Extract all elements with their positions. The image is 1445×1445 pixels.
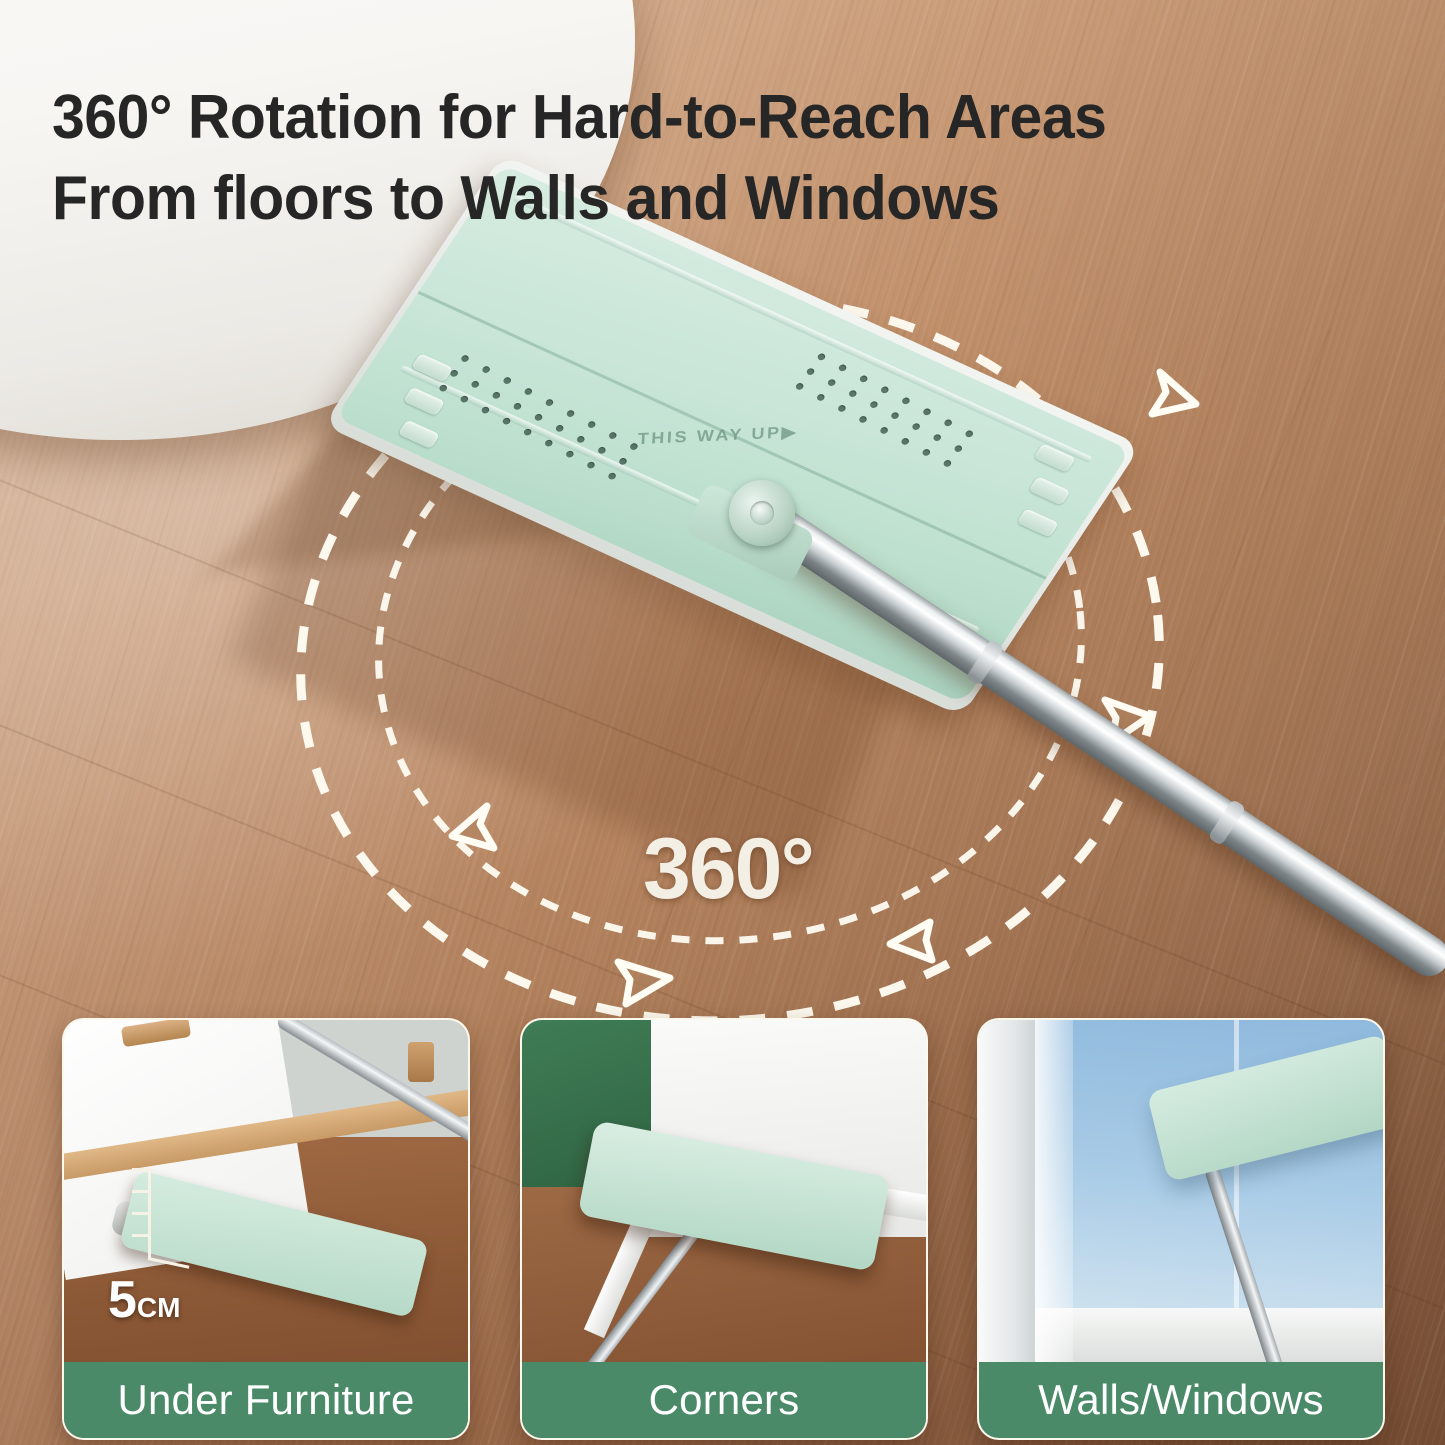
mop-pad-clip-slot xyxy=(403,387,445,416)
ruler-tick xyxy=(132,1168,150,1171)
furniture-leg xyxy=(408,1042,434,1082)
mop-pad-clip-slot xyxy=(1017,508,1059,537)
headline-line-2: From floors to Walls and Windows xyxy=(52,159,1344,240)
mop-head-orientation-label: THIS WAY UP▶ xyxy=(637,423,799,449)
use-case-panel-walls-windows[interactable]: Walls/Windows xyxy=(977,1018,1385,1440)
panel-caption-corners: Corners xyxy=(522,1362,926,1438)
height-ruler xyxy=(104,1168,150,1260)
clearance-measurement: 5CM xyxy=(108,1270,180,1330)
handle-segment-joint xyxy=(966,639,1005,686)
product-feature-image: 360° xyxy=(0,0,1445,1445)
mop-swivel-joint xyxy=(729,480,795,546)
mop-pad-clip-slot xyxy=(1028,476,1070,505)
use-case-panel-under-furniture[interactable]: 5CM Under Furniture xyxy=(62,1018,470,1440)
panel-caption-walls-windows: Walls/Windows xyxy=(979,1362,1383,1438)
handle-segment-joint xyxy=(1208,799,1247,846)
ruler-tick xyxy=(132,1234,150,1237)
mop-handle-pole xyxy=(759,503,1445,983)
use-case-panel-corners[interactable]: Corners xyxy=(520,1018,928,1440)
mop-pad-surface: THIS WAY UP▶ xyxy=(335,164,1131,703)
measure-unit: CM xyxy=(137,1292,181,1323)
use-case-panel-row: 5CM Under Furniture Corners xyxy=(0,1018,1445,1445)
mop-head-pad: THIS WAY UP▶ xyxy=(335,164,1131,703)
mop-pad-hole-grid-lower xyxy=(438,354,639,481)
measure-value: 5 xyxy=(108,1271,137,1329)
panel-caption-under-furniture: Under Furniture xyxy=(64,1362,468,1438)
ruler-tick xyxy=(132,1212,150,1215)
ruler-tick xyxy=(132,1190,150,1193)
page-title: 360° Rotation for Hard-to-Reach Areas Fr… xyxy=(52,78,1344,239)
headline-line-1: 360° Rotation for Hard-to-Reach Areas xyxy=(52,83,1106,152)
mop-pad-clip-slot xyxy=(398,420,440,449)
